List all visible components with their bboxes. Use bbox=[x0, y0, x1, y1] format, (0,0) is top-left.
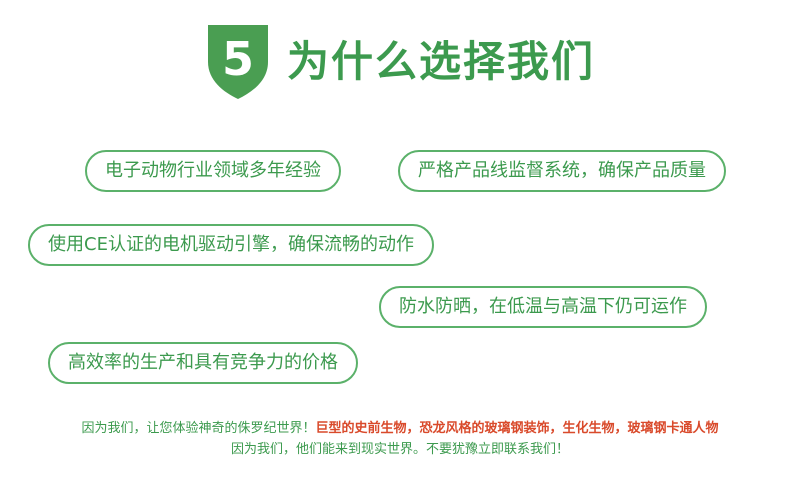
feature-pill: 防水防晒，在低温与高温下仍可运作 bbox=[379, 286, 707, 328]
feature-pill: 高效率的生产和具有竞争力的价格 bbox=[48, 342, 358, 384]
badge-number: 5 bbox=[205, 22, 271, 96]
footer-text: 因为我们，让您体验神奇的侏罗纪世界！巨型的史前生物，恐龙风格的玻璃钢装饰，生化生… bbox=[0, 418, 800, 460]
feature-pill-list: 电子动物行业领域多年经验 严格产品线监督系统，确保产品质量 使用CE认证的电机驱… bbox=[0, 150, 800, 390]
feature-pill: 电子动物行业领域多年经验 bbox=[85, 150, 341, 192]
footer-line-1: 因为我们，让您体验神奇的侏罗纪世界！巨型的史前生物，恐龙风格的玻璃钢装饰，生化生… bbox=[0, 418, 800, 439]
feature-pill: 使用CE认证的电机驱动引擎，确保流畅的动作 bbox=[28, 224, 434, 266]
footer-line-1-highlight: 巨型的史前生物，恐龙风格的玻璃钢装饰，生化生物，玻璃钢卡通人物 bbox=[316, 421, 719, 436]
page-title: 为什么选择我们 bbox=[287, 41, 595, 83]
feature-pill: 严格产品线监督系统，确保产品质量 bbox=[398, 150, 726, 192]
promo-page: 5 为什么选择我们 电子动物行业领域多年经验 严格产品线监督系统，确保产品质量 … bbox=[0, 0, 800, 485]
footer-line-2: 因为我们，他们能来到现实世界。不要犹豫立即联系我们！ bbox=[0, 439, 800, 460]
page-header: 5 为什么选择我们 bbox=[0, 22, 800, 102]
footer-line-1-prefix: 因为我们，让您体验神奇的侏罗纪世界！ bbox=[81, 421, 315, 436]
shield-icon: 5 bbox=[205, 22, 271, 102]
